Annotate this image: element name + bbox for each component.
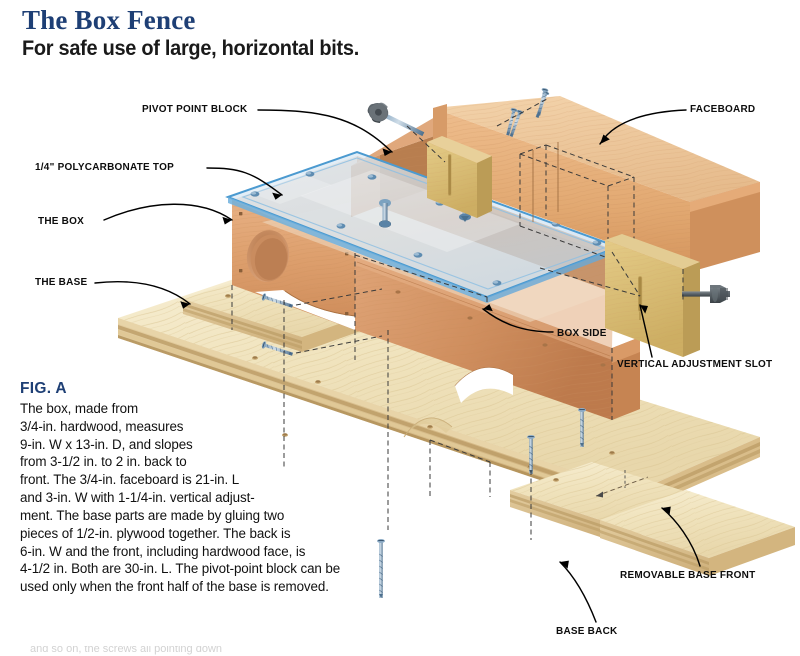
figure-caption-block: FIG. A The box, made from3/4-in. hardwoo… xyxy=(20,380,372,596)
diagram-page: The Box Fence For safe use of large, hor… xyxy=(0,0,800,656)
callout-vertical-adjustment-slot: VERTICAL ADJUSTMENT SLOT xyxy=(617,359,772,370)
caption-line: 3/4-in. hardwood, measures xyxy=(20,418,372,436)
callout-pivot-point-block: PIVOT POINT BLOCK xyxy=(142,104,248,115)
caption-line: and 3-in. W with 1-1/4-in. vertical adju… xyxy=(20,489,372,507)
caption-line: used only when the front half of the bas… xyxy=(20,578,372,596)
figure-caption-text: The box, made from3/4-in. hardwood, meas… xyxy=(20,400,372,596)
caption-line: 9-in. W x 13-in. D, and slopes xyxy=(20,436,372,454)
callout-base-back: BASE BACK xyxy=(556,626,617,637)
caption-line: from 3-1/2 in. to 2 in. back to xyxy=(20,453,372,471)
caption-line: ment. The base parts are made by gluing … xyxy=(20,507,372,525)
clipped-footer-line: and so on, the screws all pointing down xyxy=(30,646,360,655)
caption-line: The box, made from xyxy=(20,400,372,418)
caption-line: front. The 3/4-in. faceboard is 21-in. L xyxy=(20,471,372,489)
caption-line: 4-1/2 in. Both are 30-in. L. The pivot-p… xyxy=(20,560,372,578)
callout-removable-base-front: REMOVABLE BASE FRONT xyxy=(620,570,755,581)
caption-line: pieces of 1/2-in. plywood together. The … xyxy=(20,525,372,543)
callout-faceboard: FACEBOARD xyxy=(690,104,755,115)
callout-box-side: BOX SIDE xyxy=(557,328,607,339)
callout-polycarbonate-top: 1/4" POLYCARBONATE TOP xyxy=(35,162,174,173)
figure-label: FIG. A xyxy=(20,380,372,398)
callout-the-base: THE BASE xyxy=(35,277,87,288)
caption-line: 6-in. W and the front, including hardwoo… xyxy=(20,543,372,561)
clipped-footer-text: and so on, the screws all pointing down xyxy=(30,646,360,656)
callout-the-box: THE BOX xyxy=(38,216,84,227)
